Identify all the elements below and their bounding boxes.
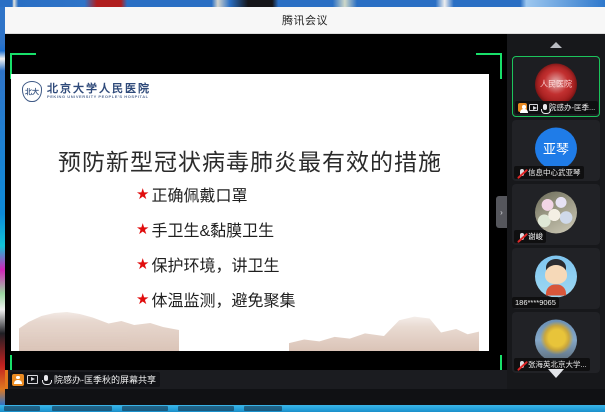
shared-screen-stage[interactable]: 北大 北京大学人民医院 PEKING UNIVERSITY PEOPLE'S H… — [5, 34, 507, 389]
avatar — [535, 319, 577, 361]
caret-up-icon — [550, 42, 562, 48]
os-taskbar[interactable] — [0, 405, 605, 412]
avatar: 亚琴 — [535, 127, 577, 169]
bullet-text: 保护环境，讲卫生 — [151, 252, 279, 276]
participants-sidebar[interactable]: 人民医院 院感办-匡季... 亚琴 信息中心武亚琴 — [507, 34, 605, 389]
presenter-share-banner: 院感办-匡季秋的屏幕共享 — [5, 370, 507, 389]
microphone-icon — [41, 374, 51, 386]
presenter-chip: 院感办-匡季秋的屏幕共享 — [10, 372, 160, 387]
hospital-name-en: PEKING UNIVERSITY PEOPLE'S HOSPITAL — [47, 95, 151, 99]
star-icon: ★ — [136, 187, 149, 202]
avatar: 人民医院 — [535, 63, 577, 105]
participants-scroll-down-button[interactable] — [507, 365, 605, 381]
person-icon — [518, 103, 527, 112]
bullet-text: 手卫生&黏膜卫生 — [151, 217, 274, 241]
slide-footer-artwork — [11, 289, 489, 351]
microphone-muted-icon — [517, 168, 526, 177]
participant-tile-2[interactable]: 谢峻 — [512, 184, 600, 245]
sidebar-collapse-handle[interactable]: › — [496, 196, 507, 228]
presentation-slide: 北大 北京大学人民医院 PEKING UNIVERSITY PEOPLE'S H… — [11, 74, 489, 351]
participant-name: 信息中心武亚琴 — [528, 167, 581, 178]
window-title: 腾讯会议 — [282, 12, 328, 28]
caret-down-icon — [548, 369, 564, 378]
participant-tile-0[interactable]: 人民医院 院感办-匡季... — [512, 56, 600, 117]
taskbar-item[interactable] — [52, 406, 112, 411]
campus-building-right-image — [289, 307, 479, 351]
hospital-logo-text: 北京大学人民医院 PEKING UNIVERSITY PEOPLE'S HOSP… — [47, 84, 151, 100]
participant-nameplate: 信息中心武亚琴 — [514, 166, 584, 179]
participant-name: 谢峻 — [528, 231, 543, 242]
slide-title: 预防新型冠状病毒肺炎最有效的措施 — [11, 143, 489, 177]
window-titlebar[interactable]: 腾讯会议 — [5, 7, 605, 34]
star-icon: ★ — [136, 257, 149, 272]
microphone-icon — [540, 103, 547, 112]
taskbar-item[interactable] — [178, 406, 234, 411]
avatar — [535, 255, 577, 297]
bullet-text: 正确佩戴口罩 — [151, 182, 247, 206]
participant-nameplate: 院感办-匡季... — [515, 101, 598, 114]
list-item: ★ 保护环境，讲卫生 — [136, 252, 295, 276]
presenter-name-label: 院感办-匡季秋的屏幕共享 — [54, 373, 156, 386]
person-icon — [12, 374, 24, 386]
participant-tile-3[interactable]: 186****9065 — [512, 248, 600, 309]
participant-nameplate: 186****9065 — [512, 297, 559, 308]
hospital-logo: 北大 北京大学人民医院 PEKING UNIVERSITY PEOPLE'S H… — [22, 81, 151, 102]
participant-tile-1[interactable]: 亚琴 信息中心武亚琴 — [512, 120, 600, 181]
screen-share-icon — [529, 104, 538, 111]
meeting-toolbar-strip[interactable] — [5, 389, 605, 405]
taskbar-item[interactable] — [122, 406, 168, 411]
campus-building-left-image — [19, 301, 179, 351]
participant-tile-4[interactable]: 张海英北京大学... — [512, 312, 600, 373]
screen-share-icon — [27, 375, 38, 384]
taskbar-item[interactable] — [244, 406, 282, 411]
participant-name: 院感办-匡季... — [549, 102, 595, 113]
star-icon: ★ — [136, 222, 149, 237]
list-item: ★ 手卫生&黏膜卫生 — [136, 217, 295, 241]
avatar — [535, 191, 577, 233]
participant-nameplate: 谢峻 — [514, 230, 546, 243]
list-item: ★ 正确佩戴口罩 — [136, 182, 295, 206]
screen-root: 腾讯会议 北大 北京大学人民医院 PEKING UNIVERSITY PEOPL… — [0, 0, 605, 412]
microphone-muted-icon — [517, 232, 526, 241]
taskbar-item[interactable] — [4, 406, 40, 411]
hospital-shield-icon: 北大 — [22, 81, 42, 102]
banner-accent-bar — [5, 370, 8, 389]
participants-scroll-up-button[interactable] — [507, 38, 605, 52]
meeting-window: 腾讯会议 北大 北京大学人民医院 PEKING UNIVERSITY PEOPL… — [5, 7, 605, 405]
participant-name: 186****9065 — [515, 298, 556, 307]
desktop-background-top — [0, 0, 605, 7]
